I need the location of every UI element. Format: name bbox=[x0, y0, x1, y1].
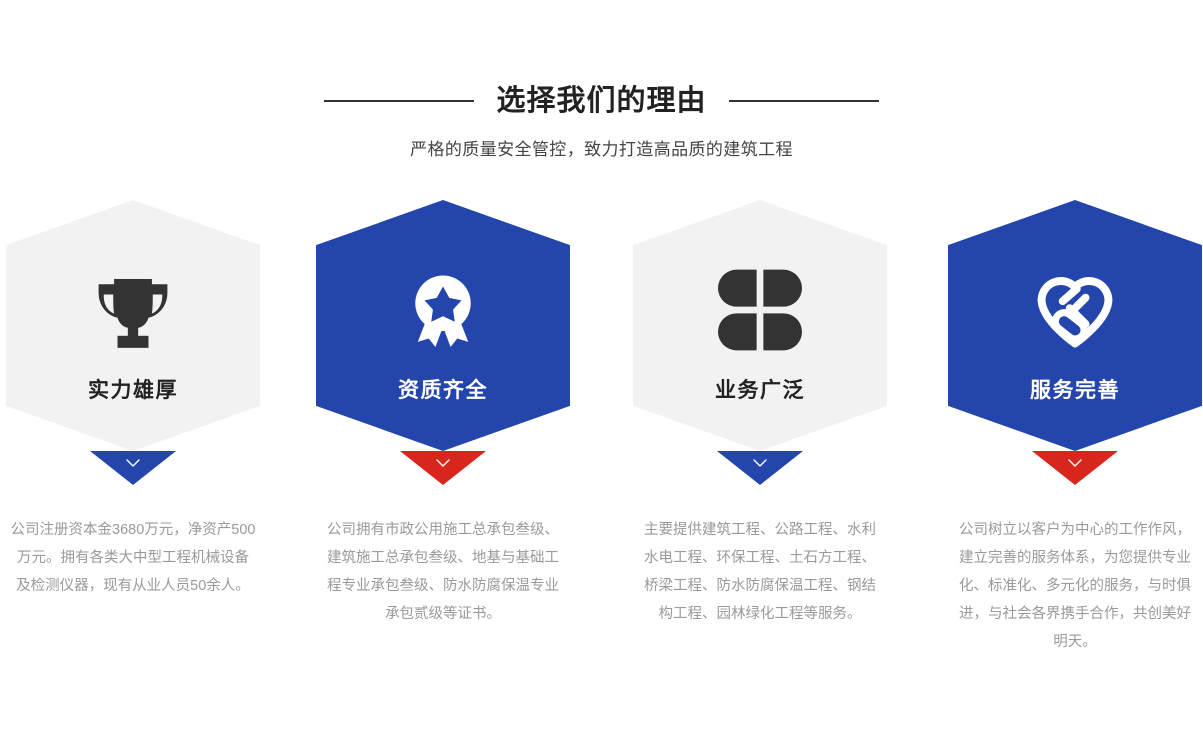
card-pointer bbox=[717, 451, 803, 485]
hexagon-panel[interactable]: 资质齐全 bbox=[316, 200, 570, 451]
feature-card-description: 公司拥有市政公用施工总承包叁级、建筑施工总承包叁级、地基与基础工程专业承包叁级、… bbox=[316, 516, 570, 628]
chevron-down-icon bbox=[436, 459, 450, 467]
title-row: 选择我们的理由 bbox=[0, 84, 1203, 118]
title-rule-right bbox=[729, 100, 879, 102]
chevron-down-icon bbox=[753, 459, 767, 467]
feature-card[interactable]: 业务广泛 主要提供建筑工程、公路工程、水利水电工程、环保工程、土石方工程、桥梁工… bbox=[633, 200, 887, 700]
feature-card-label: 服务完善 bbox=[1030, 374, 1120, 404]
hexagon-panel[interactable]: 实力雄厚 bbox=[6, 200, 260, 451]
page-title: 选择我们的理由 bbox=[496, 84, 706, 118]
page-subtitle: 严格的质量安全管控，致力打造高品质的建筑工程 bbox=[0, 135, 1203, 160]
feature-card[interactable]: 实力雄厚 公司注册资本金3680万元，净资产500万元。拥有各类大中型工程机械设… bbox=[6, 200, 260, 700]
section-header: 选择我们的理由 严格的质量安全管控，致力打造高品质的建筑工程 bbox=[0, 84, 1203, 160]
feature-card-label: 业务广泛 bbox=[715, 374, 805, 404]
card-pointer bbox=[90, 451, 176, 485]
trophy-icon bbox=[85, 262, 181, 358]
feature-card-list: 实力雄厚 公司注册资本金3680万元，净资产500万元。拥有各类大中型工程机械设… bbox=[0, 200, 1203, 700]
hexagon-wrapper: 实力雄厚 bbox=[6, 200, 260, 451]
hexagon-wrapper: 业务广泛 bbox=[633, 200, 887, 451]
chevron-down-icon bbox=[1068, 459, 1082, 467]
hexagon-wrapper: 服务完善 bbox=[948, 200, 1202, 451]
medal-star-icon bbox=[395, 262, 491, 358]
four-petal-icon bbox=[712, 262, 808, 358]
feature-card-description: 公司树立以客户为中心的工作作风，建立完善的服务体系，为您提供专业化、标准化、多元… bbox=[948, 516, 1202, 656]
feature-card-description: 公司注册资本金3680万元，净资产500万元。拥有各类大中型工程机械设备及检测仪… bbox=[6, 516, 260, 600]
chevron-down-icon bbox=[126, 459, 140, 467]
feature-card-description: 主要提供建筑工程、公路工程、水利水电工程、环保工程、土石方工程、桥梁工程、防水防… bbox=[633, 516, 887, 628]
title-rule-left bbox=[324, 100, 474, 102]
feature-card-label: 实力雄厚 bbox=[88, 374, 178, 404]
hexagon-panel[interactable]: 业务广泛 bbox=[633, 200, 887, 451]
feature-card[interactable]: 服务完善 公司树立以客户为中心的工作作风，建立完善的服务体系，为您提供专业化、标… bbox=[948, 200, 1202, 700]
feature-card-label: 资质齐全 bbox=[398, 374, 488, 404]
card-pointer bbox=[400, 451, 486, 485]
page-root: 选择我们的理由 严格的质量安全管控，致力打造高品质的建筑工程 实力雄厚 bbox=[0, 0, 1203, 736]
card-pointer bbox=[1032, 451, 1118, 485]
feature-card[interactable]: 资质齐全 公司拥有市政公用施工总承包叁级、建筑施工总承包叁级、地基与基础工程专业… bbox=[316, 200, 570, 700]
hexagon-wrapper: 资质齐全 bbox=[316, 200, 570, 451]
heart-handshake-icon bbox=[1027, 262, 1123, 358]
hexagon-panel[interactable]: 服务完善 bbox=[948, 200, 1202, 451]
